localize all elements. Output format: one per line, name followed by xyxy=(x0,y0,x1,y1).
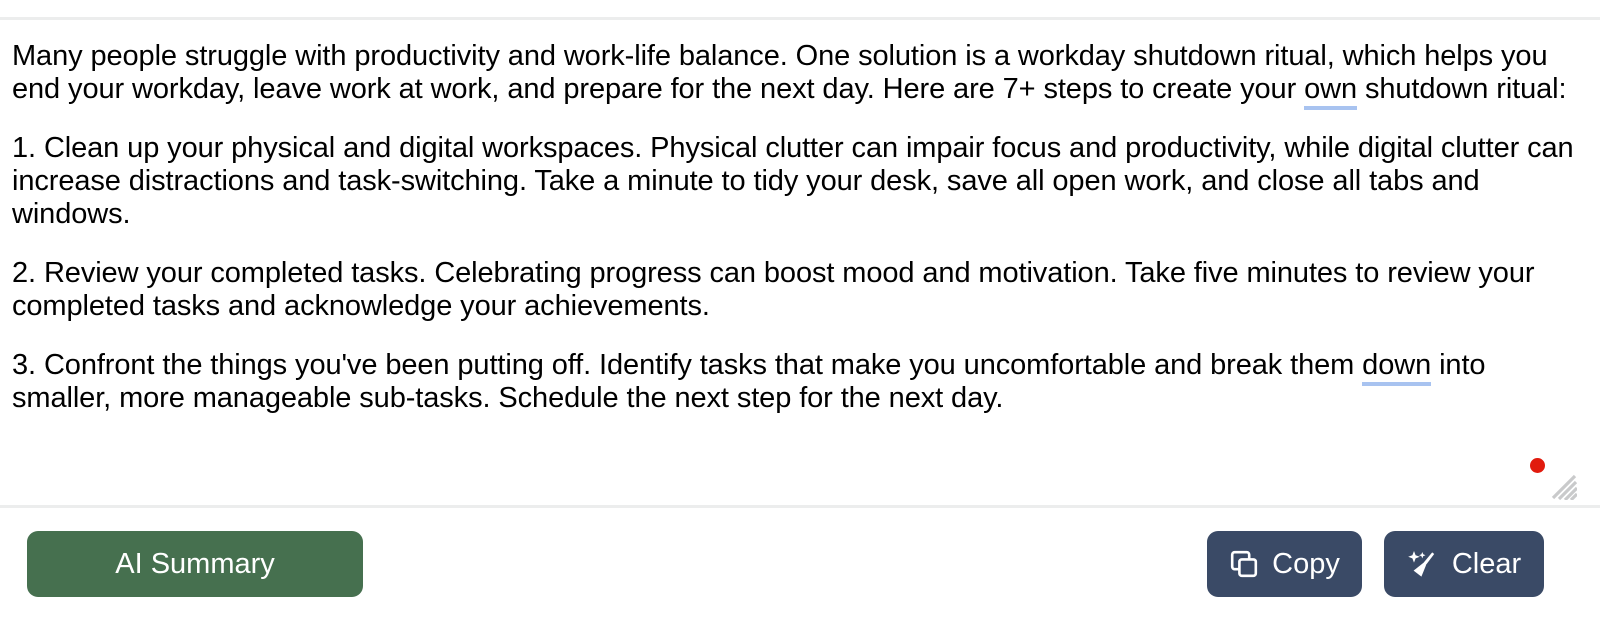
output-paragraph-step-1: 1. Clean up your physical and digital wo… xyxy=(12,132,1586,231)
output-paragraph-step-2: 2. Review your completed tasks. Celebrat… xyxy=(12,257,1586,323)
output-paragraph-step-3: 3. Confront the things you've been putti… xyxy=(12,349,1586,415)
ai-summary-button-label: AI Summary xyxy=(115,550,275,579)
output-paragraph-intro: Many people struggle with productivity a… xyxy=(12,40,1586,106)
action-bar: AI Summary Copy Clear xyxy=(0,508,1600,635)
clear-button-label: Clear xyxy=(1452,550,1521,579)
copy-button[interactable]: Copy xyxy=(1207,531,1362,597)
copy-button-label: Copy xyxy=(1272,550,1340,579)
app-root: Many people struggle with productivity a… xyxy=(0,0,1600,635)
resize-grip-handle[interactable] xyxy=(1551,474,1577,500)
grammar-suggestion-word[interactable]: own xyxy=(1304,73,1357,110)
copy-icon xyxy=(1229,549,1259,579)
grammar-suggestion-word[interactable]: down xyxy=(1362,349,1431,386)
ai-summary-button[interactable]: AI Summary xyxy=(27,531,363,597)
broom-sparkle-icon xyxy=(1407,549,1439,579)
output-textarea[interactable]: Many people struggle with productivity a… xyxy=(0,20,1600,508)
recording-dot-icon xyxy=(1530,458,1545,473)
clear-button[interactable]: Clear xyxy=(1384,531,1544,597)
